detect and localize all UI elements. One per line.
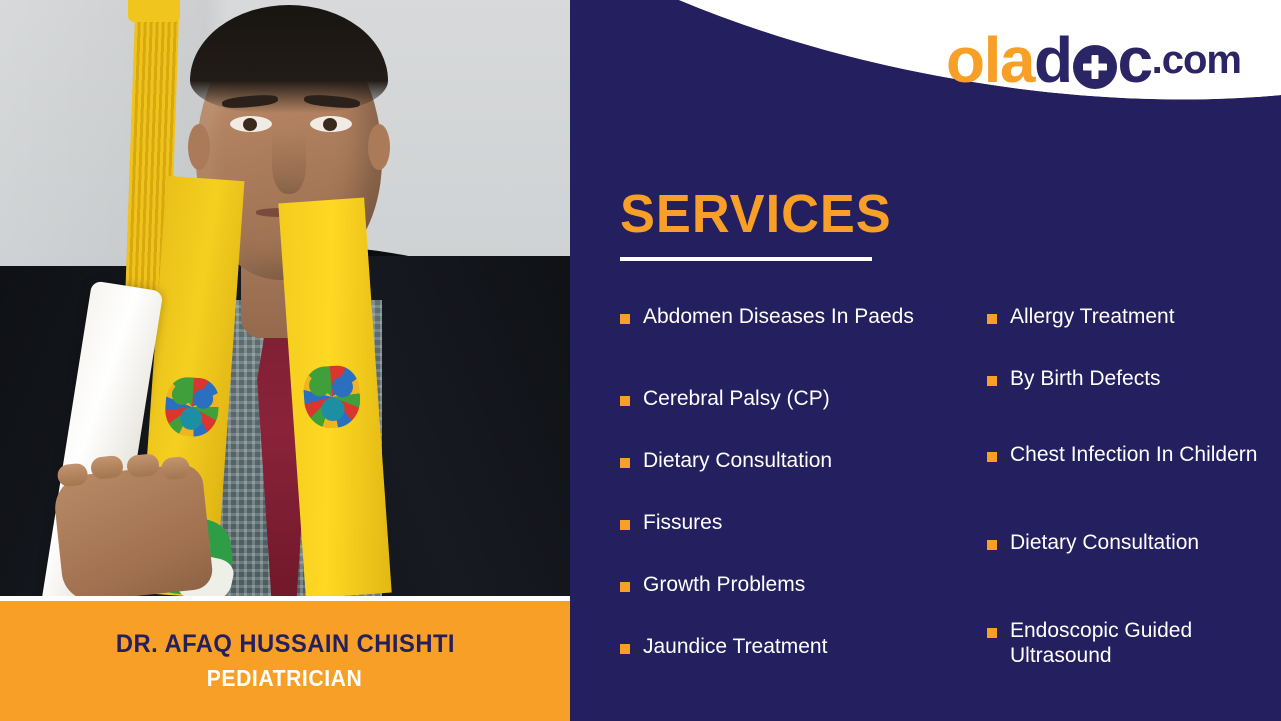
logo-text-c: c [1118, 28, 1152, 92]
service-label: Abdomen Diseases In Paeds [643, 305, 914, 330]
logo-plus-icon [1073, 45, 1117, 89]
logo-text-ola: ola [946, 28, 1034, 92]
services-title-underline [620, 257, 872, 261]
bullet-square-icon [987, 376, 997, 386]
bullet-square-icon [620, 458, 630, 468]
eye-right [310, 116, 352, 132]
bullet-square-icon [620, 520, 630, 530]
ear-right [368, 124, 390, 170]
logo-text-d: d [1034, 28, 1072, 92]
oladoc-logo[interactable]: ola d c .com [946, 28, 1241, 92]
service-label: By Birth Defects [1010, 367, 1161, 392]
service-item[interactable]: Endoscopic Guided Ultrasound [987, 619, 1261, 669]
bullet-square-icon [987, 452, 997, 462]
service-item[interactable]: Allergy Treatment [987, 305, 1261, 330]
service-item[interactable]: Dietary Consultation [987, 531, 1261, 556]
service-label: Endoscopic Guided Ultrasound [1010, 619, 1261, 669]
doctor-name-banner: DR. AFAQ HUSSAIN CHISHTI PEDIATRICIAN [0, 601, 570, 721]
doctor-name: DR. AFAQ HUSSAIN CHISHTI [115, 630, 454, 659]
service-item[interactable]: Growth Problems [620, 573, 975, 598]
doctor-photo [0, 0, 570, 596]
doctor-specialty: PEDIATRICIAN [207, 665, 363, 692]
service-label: Cerebral Palsy (CP) [643, 387, 830, 412]
service-item[interactable]: Abdomen Diseases In Paeds [620, 305, 975, 330]
services-title: SERVICES [620, 186, 1234, 243]
service-item[interactable]: By Birth Defects [987, 367, 1261, 392]
services-header: SERVICES [620, 186, 1253, 261]
ear-left [188, 124, 210, 170]
service-item[interactable]: Cerebral Palsy (CP) [620, 387, 975, 412]
bullet-square-icon [987, 314, 997, 324]
bullet-square-icon [620, 644, 630, 654]
bullet-square-icon [620, 582, 630, 592]
service-item[interactable]: Chest Infection In Childern [987, 443, 1261, 468]
services-left-column: Abdomen Diseases In PaedsCerebral Palsy … [620, 305, 975, 705]
hand [52, 463, 214, 596]
bullet-square-icon [987, 628, 997, 638]
doctor-services-card: DR. AFAQ HUSSAIN CHISHTI PEDIATRICIAN ol… [0, 0, 1281, 721]
eye-left [230, 116, 272, 132]
service-label: Growth Problems [643, 573, 805, 598]
service-item[interactable]: Fissures [620, 511, 975, 536]
services-right-column: Allergy TreatmentBy Birth DefectsChest I… [987, 305, 1261, 705]
bullet-square-icon [987, 540, 997, 550]
service-item[interactable]: Dietary Consultation [620, 449, 975, 474]
service-label: Chest Infection In Childern [1010, 443, 1257, 468]
service-label: Jaundice Treatment [643, 635, 827, 660]
service-label: Dietary Consultation [643, 449, 832, 474]
services-grid: Abdomen Diseases In PaedsCerebral Palsy … [620, 305, 1261, 705]
bullet-square-icon [620, 396, 630, 406]
service-item[interactable]: Jaundice Treatment [620, 635, 975, 660]
tassel-knot [128, 0, 180, 22]
service-label: Fissures [643, 511, 722, 536]
service-label: Dietary Consultation [1010, 531, 1199, 556]
nose [272, 132, 306, 194]
bullet-square-icon [620, 314, 630, 324]
photo-background [0, 0, 570, 596]
service-label: Allergy Treatment [1010, 305, 1175, 330]
logo-text-com: .com [1152, 40, 1241, 80]
